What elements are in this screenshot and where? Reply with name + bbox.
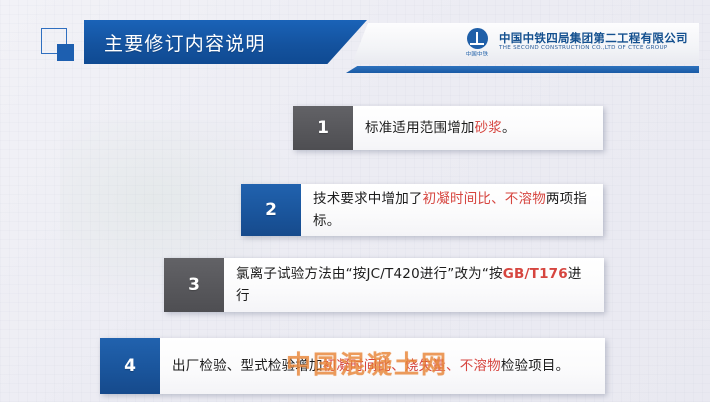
- revision-items-list: 1 标准适用范围增加砂浆。 2 技术要求中增加了初凝时间比、不溶物两项指标。 3…: [0, 86, 710, 402]
- logo-underline-bar: [346, 66, 699, 73]
- square-filled-icon: [57, 44, 74, 61]
- list-item: 3 氯离子试验方法由“按JC/T420进行”改为“按GB/T176进行: [164, 258, 604, 312]
- list-item: 1 标准适用范围增加砂浆。: [293, 106, 603, 150]
- item-text-segment: 检验项目。: [501, 358, 570, 374]
- item-number-badge: 3: [164, 258, 224, 312]
- item-number-badge: 1: [293, 106, 353, 150]
- list-item: 4 出厂检验、型式检验增加初凝时间比、烧失量、不溶物检验项目。: [100, 338, 605, 394]
- item-text-highlight: 初凝时间比、不溶物: [423, 191, 546, 207]
- item-text-segment: 氯离子试验方法由“按JC/T420进行”改为“按: [236, 266, 503, 282]
- list-item: 2 技术要求中增加了初凝时间比、不溶物两项指标。: [241, 184, 603, 236]
- item-text-highlight: 砂浆: [475, 120, 502, 136]
- item-text-highlight: GB/T176: [503, 266, 568, 282]
- item-text: 氯离子试验方法由“按JC/T420进行”改为“按GB/T176进行: [236, 263, 594, 307]
- slide-header: 主要修订内容说明 中国中铁 中国中铁四局集团第二工程有限公司 THE SECON…: [0, 0, 710, 86]
- item-text-segment: 标准适用范围增加: [365, 120, 475, 136]
- title-banner-content: 主要修订内容说明: [84, 20, 367, 64]
- company-logo: 中国中铁 中国中铁四局集团第二工程有限公司 THE SECOND CONSTRU…: [462, 28, 688, 57]
- item-text: 技术要求中增加了初凝时间比、不溶物两项指标。: [313, 188, 593, 232]
- item-text-highlight: 初凝时间比、烧失量、不溶物: [323, 358, 501, 374]
- item-text-segment: 技术要求中增加了: [313, 191, 423, 207]
- item-text-panel: 出厂检验、型式检验增加初凝时间比、烧失量、不溶物检验项目。: [160, 338, 605, 394]
- item-text-panel: 氯离子试验方法由“按JC/T420进行”改为“按GB/T176进行: [224, 258, 604, 312]
- item-text-segment: 出厂检验、型式检验增加: [172, 358, 323, 374]
- logo-mark-caption: 中国中铁: [466, 50, 489, 58]
- logo-circle-glyph: [467, 28, 488, 49]
- item-number-badge: 2: [241, 184, 301, 236]
- item-text: 出厂检验、型式检验增加初凝时间比、烧失量、不溶物检验项目。: [172, 355, 569, 377]
- item-text-panel: 标准适用范围增加砂浆。: [353, 106, 603, 150]
- company-name-en: THE SECOND CONSTRUCTION CO.,LTD OF CTCE …: [499, 44, 710, 54]
- ctce-anchor-logo-icon: 中国中铁: [462, 28, 492, 57]
- item-text-panel: 技术要求中增加了初凝时间比、不溶物两项指标。: [301, 184, 603, 236]
- page-title: 主要修订内容说明: [84, 29, 266, 56]
- company-name-block: 中国中铁四局集团第二工程有限公司 THE SECOND CONSTRUCTION…: [499, 31, 688, 53]
- item-text: 标准适用范围增加砂浆。: [365, 117, 516, 139]
- item-number-badge: 4: [100, 338, 160, 394]
- item-text-segment: 。: [502, 120, 516, 136]
